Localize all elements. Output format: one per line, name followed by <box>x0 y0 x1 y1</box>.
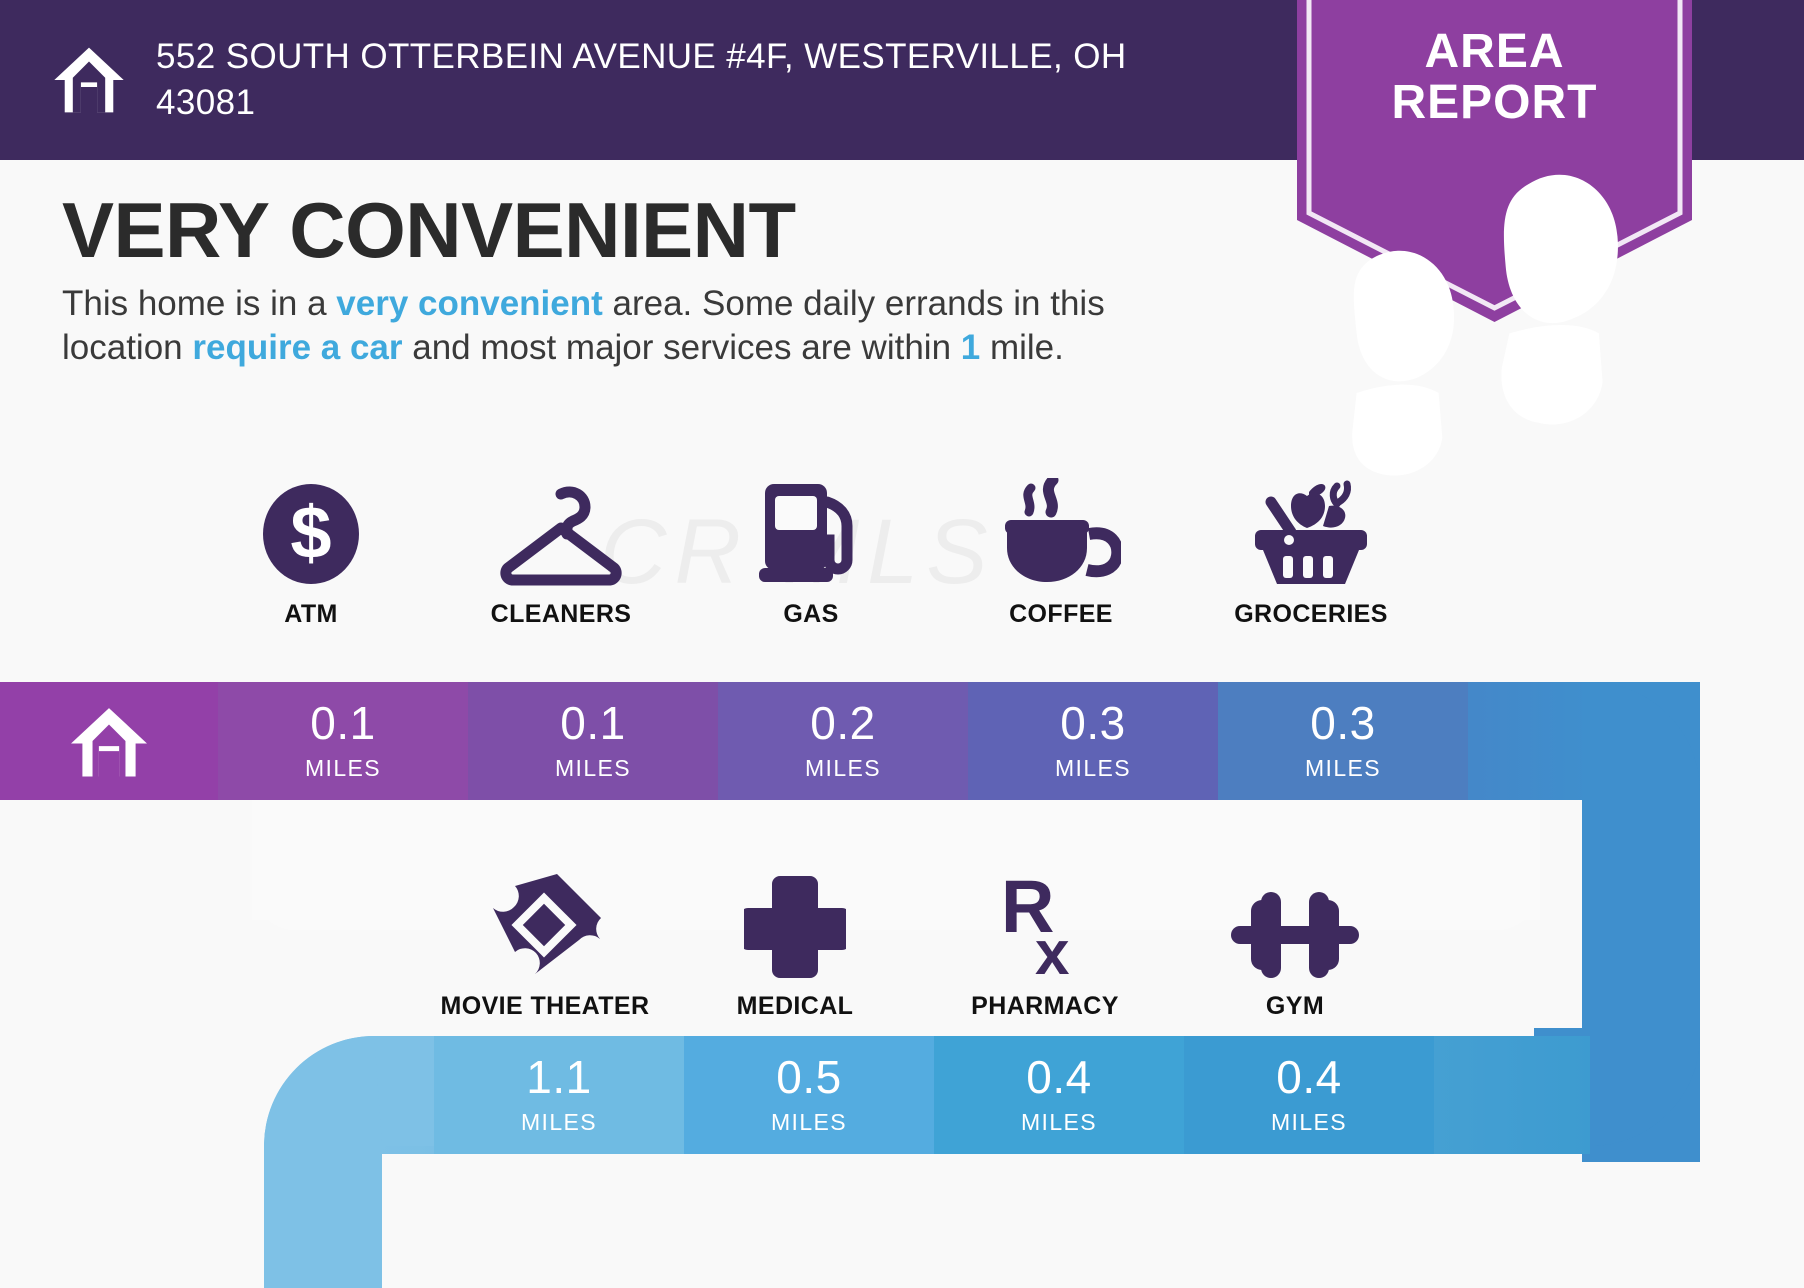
amenity-label: MEDICAL <box>737 992 854 1021</box>
amenity-label: MOVIE THEATER <box>441 992 650 1021</box>
gas-pump-icon <box>757 478 865 586</box>
coffee-cup-icon <box>1001 478 1121 586</box>
amenity-label: PHARMACY <box>971 992 1119 1021</box>
distance-cell-gym: 0.4 MILES <box>1184 1036 1434 1154</box>
amenity-icon-row-1: $ ATM CLEANERS GAS <box>186 478 1436 629</box>
rx-icon: R x <box>995 870 1095 978</box>
distance-bar-row-2: 1.1 MILES 0.5 MILES 0.4 MILES 0.4 MILES <box>434 1036 1434 1154</box>
amenity-cleaners[interactable]: CLEANERS <box>436 478 686 629</box>
dollar-circle-icon: $ <box>261 478 361 586</box>
distance-cell-pharmacy: 0.4 MILES <box>934 1036 1184 1154</box>
amenity-label: ATM <box>284 600 338 629</box>
medical-cross-icon <box>744 870 846 978</box>
amenity-icon-row-2: MOVIE THEATER MEDICAL R x PHARMACY <box>420 870 1420 1021</box>
dumbbell-icon <box>1231 870 1359 978</box>
svg-text:$: $ <box>290 491 331 574</box>
distance-unit: MILES <box>1055 755 1131 782</box>
svg-text:x: x <box>1035 919 1070 978</box>
distance-unit: MILES <box>521 1109 597 1136</box>
amenity-coffee[interactable]: COFFEE <box>936 478 1186 629</box>
distance-value: 0.1 <box>310 700 375 746</box>
amenity-label: CLEANERS <box>491 600 632 629</box>
amenity-label: GROCERIES <box>1234 600 1388 629</box>
amenity-label: GYM <box>1266 992 1324 1021</box>
movie-ticket-icon <box>489 870 601 978</box>
amenity-movie-theater[interactable]: MOVIE THEATER <box>420 870 670 1021</box>
distance-cell-gas: 0.2 MILES <box>718 682 968 800</box>
home-marker-cell <box>0 682 218 800</box>
distance-value: 0.1 <box>560 700 625 746</box>
distance-cell-coffee: 0.3 MILES <box>968 682 1218 800</box>
amenity-label: COFFEE <box>1009 600 1113 629</box>
amenity-gym[interactable]: GYM <box>1170 870 1420 1021</box>
distance-unit: MILES <box>1271 1109 1347 1136</box>
distance-value: 0.4 <box>1026 1054 1091 1100</box>
amenity-groceries[interactable]: GROCERIES <box>1186 478 1436 629</box>
distance-unit: MILES <box>805 755 881 782</box>
area-report-badge: AREA REPORT <box>1297 0 1692 322</box>
distance-bar-row-1: 0.1 MILES 0.1 MILES 0.2 MILES 0.3 MILES … <box>0 682 1468 800</box>
distance-cell-atm: 0.1 MILES <box>218 682 468 800</box>
distance-unit: MILES <box>555 755 631 782</box>
amenity-medical[interactable]: MEDICAL <box>670 870 920 1021</box>
distance-unit: MILES <box>305 755 381 782</box>
distance-value: 0.3 <box>1060 700 1125 746</box>
distance-cell-movie-theater: 1.1 MILES <box>434 1036 684 1154</box>
distance-cell-medical: 0.5 MILES <box>684 1036 934 1154</box>
hanger-icon <box>496 478 626 586</box>
amenity-pharmacy[interactable]: R x PHARMACY <box>920 870 1170 1021</box>
distance-value: 1.1 <box>526 1054 591 1100</box>
distance-unit: MILES <box>771 1109 847 1136</box>
distance-cell-groceries: 0.3 MILES <box>1218 682 1468 800</box>
distance-value: 0.3 <box>1310 700 1375 746</box>
distance-cell-cleaners: 0.1 MILES <box>468 682 718 800</box>
distance-value: 0.2 <box>810 700 875 746</box>
amenity-label: GAS <box>783 600 838 629</box>
distance-value: 0.4 <box>1276 1054 1341 1100</box>
distance-unit: MILES <box>1021 1109 1097 1136</box>
amenity-atm[interactable]: $ ATM <box>186 478 436 629</box>
distance-value: 0.5 <box>776 1054 841 1100</box>
distance-unit: MILES <box>1305 755 1381 782</box>
grocery-basket-icon <box>1251 478 1371 586</box>
amenity-gas[interactable]: GAS <box>686 478 936 629</box>
home-icon <box>67 703 151 779</box>
